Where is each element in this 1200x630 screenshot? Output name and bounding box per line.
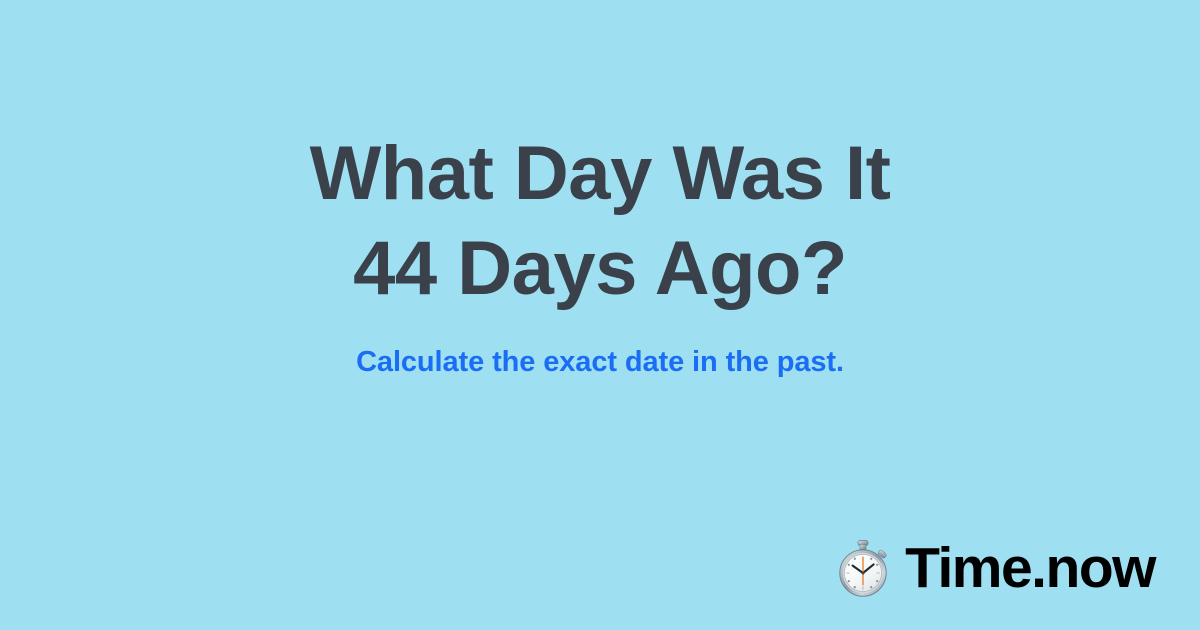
stopwatch-icon	[835, 539, 891, 597]
page-title: What Day Was It 44 Days Ago?	[0, 126, 1200, 316]
brand-logo[interactable]: Time.now	[835, 539, 1155, 597]
brand-name: Time.now	[905, 540, 1155, 597]
page-title-line-1: What Day Was It	[0, 126, 1200, 221]
page-title-line-2: 44 Days Ago?	[0, 221, 1200, 316]
hero-block: What Day Was It 44 Days Ago? Calculate t…	[0, 126, 1200, 380]
page-subtitle: Calculate the exact date in the past.	[0, 344, 1200, 380]
social-share-card: What Day Was It 44 Days Ago? Calculate t…	[0, 0, 1200, 630]
